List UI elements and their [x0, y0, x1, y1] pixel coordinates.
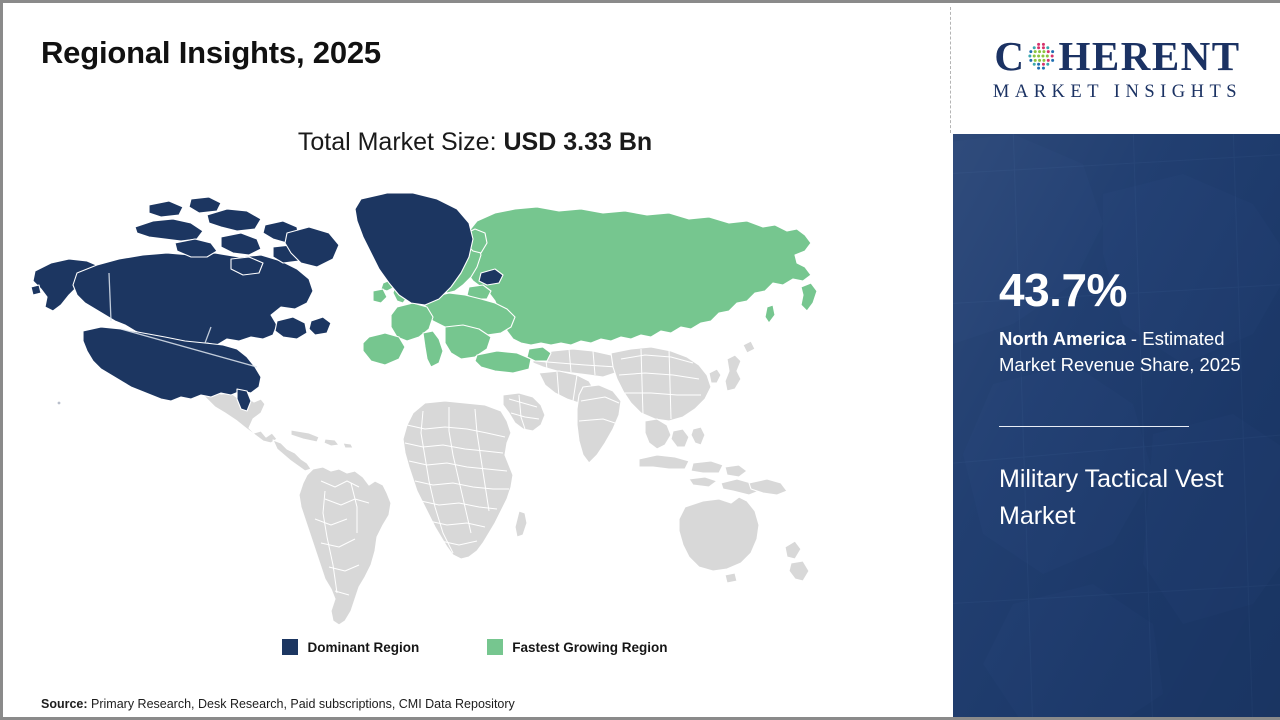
world-choropleth-map	[25, 181, 835, 629]
legend-label-dominant: Dominant Region	[307, 640, 419, 655]
stat-value: 43.7%	[999, 267, 1127, 313]
page-title: Regional Insights, 2025	[41, 35, 381, 71]
total-market-size: Total Market Size: USD 3.33 Bn	[3, 128, 947, 157]
total-market-size-label: Total Market Size:	[298, 128, 504, 156]
legend-item-fastest-growing: Fastest Growing Region	[487, 639, 667, 655]
legend-swatch-dominant	[282, 639, 298, 655]
legend-label-fastest-growing: Fastest Growing Region	[512, 640, 667, 655]
source-text: Primary Research, Desk Research, Paid su…	[88, 697, 515, 711]
legend-swatch-fastest-growing	[487, 639, 503, 655]
total-market-size-value: USD 3.33 Bn	[503, 128, 652, 156]
market-name: Military Tactical Vest Market	[999, 461, 1244, 535]
logo-wordmark: C	[994, 36, 1240, 77]
left-content-panel: Regional Insights, 2025 Total Market Siz…	[3, 3, 947, 720]
map-legend: Dominant Region Fastest Growing Region	[3, 639, 947, 655]
logo-word-left: C	[994, 36, 1025, 77]
source-note: Source: Primary Research, Desk Research,…	[41, 697, 515, 711]
stat-region-name: North America	[999, 328, 1126, 349]
regional-insights-slide: Regional Insights, 2025 Total Market Siz…	[0, 0, 1280, 720]
world-map-container	[25, 181, 835, 629]
source-label: Source:	[41, 697, 88, 711]
stat-panel: 43.7% North America - Estimated Market R…	[953, 134, 1280, 720]
brand-logo: C	[955, 6, 1280, 133]
stat-caption: North America - Estimated Market Revenue…	[999, 326, 1261, 379]
panel-divider	[950, 7, 951, 133]
logo-tagline: MARKET INSIGHTS	[993, 82, 1242, 103]
legend-item-dominant: Dominant Region	[282, 639, 419, 655]
stat-divider-rule	[999, 426, 1189, 427]
logo-word-right: HERENT	[1058, 36, 1240, 77]
globe-dots-icon	[1026, 41, 1057, 72]
stat-panel-content: 43.7% North America - Estimated Market R…	[999, 134, 1271, 720]
